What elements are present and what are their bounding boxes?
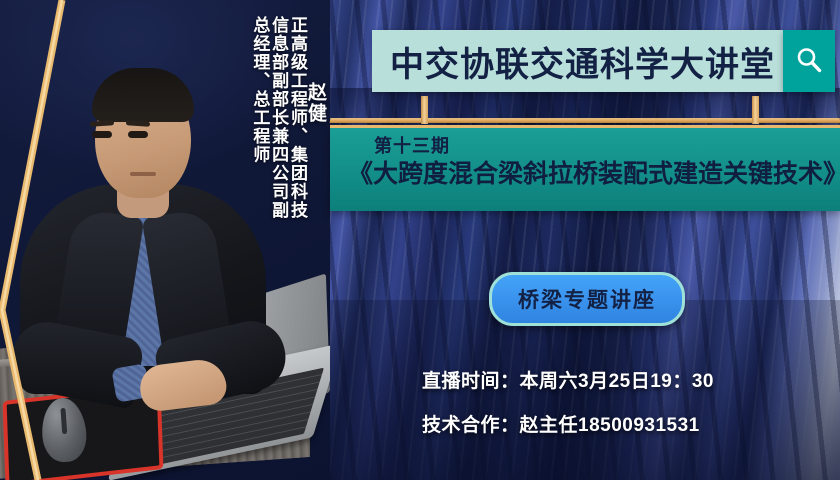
subtitle-banner: 第十三期 《大跨度混合梁斜拉桥装配式建造关键技术》 <box>330 125 840 211</box>
topic-badge[interactable]: 桥梁专题讲座 <box>489 272 685 326</box>
credential-line-3: 总经理、总工程师 <box>250 16 268 164</box>
main-title-banner: 中交协联交通科学大讲堂 <box>372 30 783 92</box>
episode-label: 第十三期 <box>374 136 826 157</box>
gold-chevron-divider <box>0 0 120 480</box>
webinar-poster: 正高级工程师、集团科技 信息部副部长兼四公司副 总经理、总工程师 赵健 中交协联… <box>0 0 840 480</box>
search-icon <box>794 46 824 76</box>
speaker-name: 赵健 <box>302 82 329 124</box>
live-time-text: 直播时间：本周六3月25日19：30 <box>422 366 714 393</box>
eye-right <box>128 131 148 138</box>
gold-rail-post-left <box>421 96 428 124</box>
page-title: 中交协联交通科学大讲堂 <box>372 37 775 86</box>
credential-line-2: 信息部副部长兼四公司副 <box>269 16 287 220</box>
mouth <box>130 172 156 176</box>
gold-rail-post-right <box>752 96 759 124</box>
search-button[interactable] <box>783 30 835 92</box>
contact-text: 技术合作：赵主任18500931531 <box>422 410 700 437</box>
speaker-credentials: 正高级工程师、集团科技 信息部副部长兼四公司副 总经理、总工程师 <box>250 16 306 220</box>
topic-title: 《大跨度混合梁斜拉桥装配式建造关键技术》 <box>348 159 826 189</box>
gold-rail-line <box>330 118 840 123</box>
